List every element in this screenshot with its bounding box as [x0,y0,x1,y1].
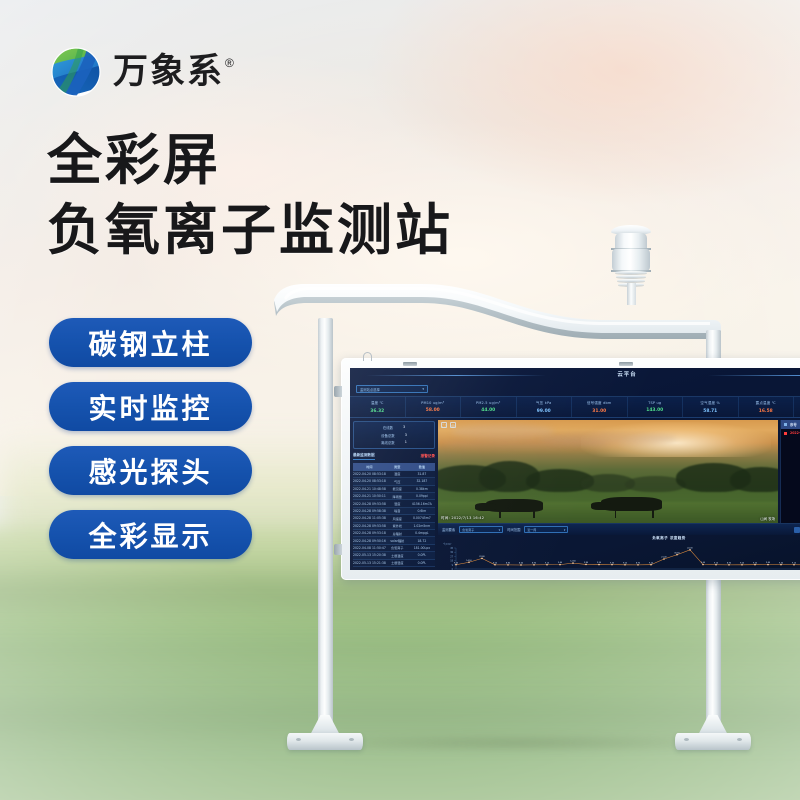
svg-text:14.50: 14.50 [466,560,472,562]
metric-signal: 信号强度 dbm 31.00 [572,397,628,417]
column-header-value: 数值 [409,464,435,469]
table-row[interactable]: 2022-05-13 15:20:38 土壤温度 0.0PL [353,552,435,559]
alarm-row[interactable]: 2022-04-12 11:32 负氧离子浓度 低于设定阈值 报警 [781,429,800,437]
cell-value: 0.0PL [409,561,435,565]
table-row[interactable]: 2022-04-08 11:50:47 负氧离子 181.00Lpx [353,545,435,552]
mounting-base-plate-left [287,715,363,755]
cabinet-side-bracket [334,386,342,397]
cell-time: 2022-04-08 11:50:47 [353,546,386,550]
table-row[interactable]: 2022-04-28 09:50:16 solar辐射 18.72 [353,537,435,544]
chevron-down-icon: ▾ [422,387,424,391]
alarm-panel: 序号 报警信息 2022-04-12 11:32 负氧离子浓度 低于设定阈值 报… [780,420,800,523]
svg-text:9.60: 9.60 [701,562,706,564]
bullet-icon [784,423,787,426]
metric-tsp: TSP ug 143.00 [628,397,684,417]
cell-value: 18.72 [409,539,435,543]
monitoring-station-product: 云平台 xxxxxx@163.com 退出 监测站点选择 ▾ 温度 ℃ 36.3… [0,0,800,800]
cell-value: 4156.16m7A [409,502,435,506]
dashboard-body: 在线数 3 设备总数 3 离线总数 1 最新监测数据 [350,418,800,570]
mounting-base-plate-right [675,715,751,755]
table-icon[interactable] [794,527,800,533]
element-select-value: 负氧离子 [462,528,474,532]
stat-row: 离线总数 1 [358,440,430,445]
base-bolt [296,738,301,741]
cell-type: 土壤温度 [386,553,409,558]
alarm-index: 2022-04-12 11:32 [790,431,800,435]
metric-label: 气压 kPa [536,401,551,406]
control-label-element: 监测要素 [442,527,455,532]
stat-key: 离线总数 [381,440,395,445]
svg-text:22.80: 22.80 [479,556,485,558]
metric-value: 58.00 [426,408,440,413]
alarm-header-row: 序号 报警信息 [781,420,800,429]
svg-text:9.00: 9.00 [740,562,745,564]
cabinet-hook-icon [363,352,372,361]
svg-text:9.00: 9.00 [623,562,628,564]
metric-pm10: PM10 ug/m³ 58.00 [406,397,462,417]
metric-value: 58.71 [703,409,717,414]
base-plate [287,733,363,750]
metric-label: 信号强度 dbm [587,401,612,406]
cell-time: 2022-05-13 15:20:38 [353,553,386,557]
stat-value: 3 [403,425,405,430]
svg-text:9.30: 9.30 [779,562,784,564]
svg-text:8.90: 8.90 [727,562,732,564]
control-label-range: 时间范围 [507,527,520,532]
cow-leg [533,511,535,518]
svg-text:30.60: 30.60 [674,552,680,554]
metric-temperature: 温度 ℃ 36.32 [350,397,406,417]
cow-leg [615,510,617,518]
base-bolt [684,738,689,741]
video-timestamp: 时间: 2022/7/13 16:42 [441,516,484,521]
cell-type: 土壤湿度 [386,560,409,565]
video-location-tag: 山间 牧场 [760,516,775,521]
cell-time: 2022-05-13 15:21:38 [353,561,386,565]
cloud [445,439,608,449]
dashboard-sidebar: 在线数 3 设备总数 3 离线总数 1 最新监测数据 [350,418,438,570]
stat-key: 在线数 [383,425,393,430]
latest-data-table: 时间 类型 数值 2022-04-20 08:53:18 温度 31.87 20… [353,463,435,567]
cell-type: 噪音 [386,508,409,513]
base-bolt [349,738,354,741]
table-row[interactable]: 2022-04-28 09:53:58 紫外线 1.02m5nm [353,523,435,530]
cell-value: 31.87 [409,472,435,476]
chevron-down-icon: ▾ [499,528,501,532]
cabinet-tab [619,362,633,366]
metric-pm25: PM2.5 ug/m³ 44.00 [461,397,517,417]
led-screen-dashboard: 云平台 xxxxxx@163.com 退出 监测站点选择 ▾ 温度 ℃ 36.3… [350,368,800,570]
metric-value: 31.00 [592,409,606,414]
cell-type: 温度 [386,471,409,476]
metric-label: 空气湿度 % [700,401,720,406]
svg-text:8.90: 8.90 [532,562,537,564]
column-header-time: 时间 [353,464,386,469]
ground-shadow [300,735,730,751]
alarm-col-index: 序号 [790,422,800,427]
chart-controls: 监测要素 负氧离子 ▾ 时间范围 近一周 ▾ [438,523,800,535]
carbon-steel-column-left [318,318,333,733]
svg-text:8.60: 8.60 [519,563,524,565]
range-select-value: 近一周 [527,528,536,532]
svg-text:41.00: 41.00 [687,547,693,549]
cell-value: 32.187 [409,479,435,483]
svg-text:9.40: 9.40 [766,562,771,564]
svg-text:27: 27 [450,555,453,558]
chart-title: 负氧离子 浓度趋势 [438,536,800,541]
metric-value: 44.00 [481,408,495,413]
svg-text:9.00: 9.00 [493,562,498,564]
table-title: 最新监测数据 [353,453,375,460]
stat-row: 在线数 3 [358,425,430,430]
cell-time: 2022-04-28 11:05:38 [353,516,386,520]
cow-head [475,503,495,510]
tree [730,467,778,492]
sensor-mast [627,283,636,305]
cell-type: 总辐射 [386,531,409,536]
chevron-down-icon: ▾ [564,528,566,532]
video-and-alarm-row: ⛶ ◎ 时间: 2022/7/13 16:42 山间 牧场 序号 报警信息 [438,418,800,523]
svg-text:9.10: 9.10 [792,562,797,564]
cell-value: 0.4mpgL [409,531,435,535]
svg-text:9.20: 9.20 [753,562,758,564]
svg-text:9.80: 9.80 [584,562,589,564]
metric-dewpoint: 露点温度 ℃ 16.58 [739,397,795,417]
sensor-lower-body [612,249,650,271]
svg-text:8.90: 8.90 [636,562,641,564]
table-row[interactable]: 2022-04-20 08:53:18 气压 32.187 [353,478,435,485]
stat-row: 设备总数 3 [358,433,430,438]
table-row[interactable]: 2022-04-28 09:58:38 噪音 0.6lm [353,508,435,515]
cell-value: 0.00745m7 [409,516,435,520]
stat-key: 设备总数 [381,433,395,438]
cell-time: 2022-04-28 09:53:58 [353,524,386,528]
cell-value: 0.38km [409,487,435,491]
metric-value: 99.00 [537,409,551,414]
metric-value: 36.32 [370,409,384,414]
cell-time: 2022-04-28 09:58:38 [353,509,386,513]
dashboard-title: 云平台 [350,370,800,378]
cell-type: 湿度 [386,501,409,506]
svg-text:9.10: 9.10 [545,562,550,564]
cell-value: 1.02m5nm [409,524,435,528]
svg-text:9.40: 9.40 [558,562,563,564]
cow-leg [499,511,501,518]
cell-type: 负氧离子 [386,545,409,550]
cabinet-side-bracket [334,544,342,555]
camera-feed[interactable]: ⛶ ◎ 时间: 2022/7/13 16:42 山间 牧场 [438,420,778,523]
table-header-row: 时间 类型 数值 [353,463,435,471]
cell-value: 0.6lm [409,509,435,513]
cell-time: 2022-04-28 09:53:58 [353,502,386,506]
element-select[interactable]: 负氧离子 ▾ [459,526,503,533]
cell-type: 降雨量 [386,494,409,499]
metric-humidity: 空气湿度 % 58.71 [683,397,739,417]
cow-leg [652,510,654,518]
cell-type: 能见度 [386,486,409,491]
metric-value: 143.00 [646,408,663,413]
cell-time: 2022-04-20 08:53:18 [353,472,386,476]
cell-time: 2022-04-21 10:50:11 [353,494,386,498]
snapshot-icon[interactable]: ◎ [450,422,456,428]
dashboard-header: 云平台 xxxxxx@163.com 退出 [350,368,800,383]
cell-type: 紫外线 [386,523,409,528]
alarm-records-link[interactable]: 报警记录 [421,454,435,459]
device-stats-box: 在线数 3 设备总数 3 离线总数 1 [353,421,435,449]
metrics-strip: 温度 ℃ 36.32 PM10 ug/m³ 58.00 PM2.5 ug/m³ … [350,396,800,418]
video-controls[interactable]: ⛶ ◎ [441,422,456,428]
cow-head [591,502,611,509]
base-plate [675,733,751,750]
metric-value: 16.58 [759,409,773,414]
cell-type: 风速度 [386,516,409,521]
metric-noise: 噪声 db 48.00 [794,397,800,417]
svg-text:9.50: 9.50 [597,562,602,564]
bullet-icon [784,432,787,435]
table-row[interactable]: 2022-04-21 10:48:58 能见度 0.38km [353,486,435,493]
trend-chart: 负氧离子 浓度趋势 个/cm³ 09182736459.2006-0214.50… [438,535,800,570]
station-select[interactable]: 监测站点选择 ▾ [356,385,428,393]
base-bolt [737,738,742,741]
metric-label: PM10 ug/m³ [421,401,444,405]
station-select-value: 监测站点选择 [360,387,380,392]
column-header-type: 类型 [386,464,409,469]
svg-text:12.60: 12.60 [570,561,576,563]
cell-time: 2022-04-28 09:50:16 [353,539,386,543]
cell-time: 2022-04-21 10:48:58 [353,487,386,491]
table-row[interactable]: 2022-04-28 09:53:58 湿度 4156.16m7A [353,500,435,507]
svg-text:21.40: 21.40 [661,557,667,559]
cloud [452,424,554,438]
stat-value: 3 [405,433,407,438]
cell-value: 0.0PL [409,553,435,557]
metric-label: 温度 ℃ [371,401,384,406]
cell-type: 气压 [386,479,409,484]
svg-text:8.80: 8.80 [506,562,511,564]
stat-value: 1 [405,440,407,445]
cell-time: 2022-04-20 08:53:18 [353,479,386,483]
metric-label: PM2.5 ug/m³ [476,401,500,405]
metric-label: 露点温度 ℃ [756,401,776,406]
table-header-bar: 最新监测数据 报警记录 [353,453,435,460]
svg-text:36: 36 [450,551,453,554]
metric-pressure: 气压 kPa 99.00 [517,397,573,417]
table-row[interactable]: 2022-04-28 11:05:38 风速度 0.00745m7 [353,515,435,522]
table-row[interactable]: 2022-04-21 10:50:11 降雨量 0.09ppi [353,493,435,500]
range-select[interactable]: 近一周 ▾ [524,526,568,533]
svg-text:9.30: 9.30 [610,562,615,564]
table-row[interactable]: 2022-04-20 08:53:18 温度 31.87 [353,471,435,478]
cell-time: 2022-04-28 09:53:18 [353,531,386,535]
cell-value: 0.09ppi [409,494,435,498]
fullscreen-icon[interactable]: ⛶ [441,422,447,428]
cell-value: 181.00Lpx [409,546,435,550]
svg-text:45: 45 [450,547,453,550]
chart-svg: 09182736459.2006-0214.5006-0322.8006-049… [442,545,800,570]
dashboard-main: ⛶ ◎ 时间: 2022/7/13 16:42 山间 牧场 序号 报警信息 [438,418,800,570]
svg-text:9.20: 9.20 [454,562,459,564]
display-cabinet: 云平台 xxxxxx@163.com 退出 监测站点选择 ▾ 温度 ℃ 36.3… [341,358,800,583]
cell-type: solar辐射 [386,538,409,543]
metric-label: TSP ug [648,401,661,405]
table-row[interactable]: 2022-05-13 15:21:38 土壤湿度 0.0PL [353,560,435,567]
table-row[interactable]: 2022-04-28 09:53:18 总辐射 0.4mpgL [353,530,435,537]
chart-type-icons[interactable] [794,527,800,533]
svg-text:0: 0 [452,568,454,570]
cabinet-tab [403,362,417,366]
ultrasonic-weather-sensor-icon [607,225,655,297]
svg-text:9.10: 9.10 [714,562,719,564]
